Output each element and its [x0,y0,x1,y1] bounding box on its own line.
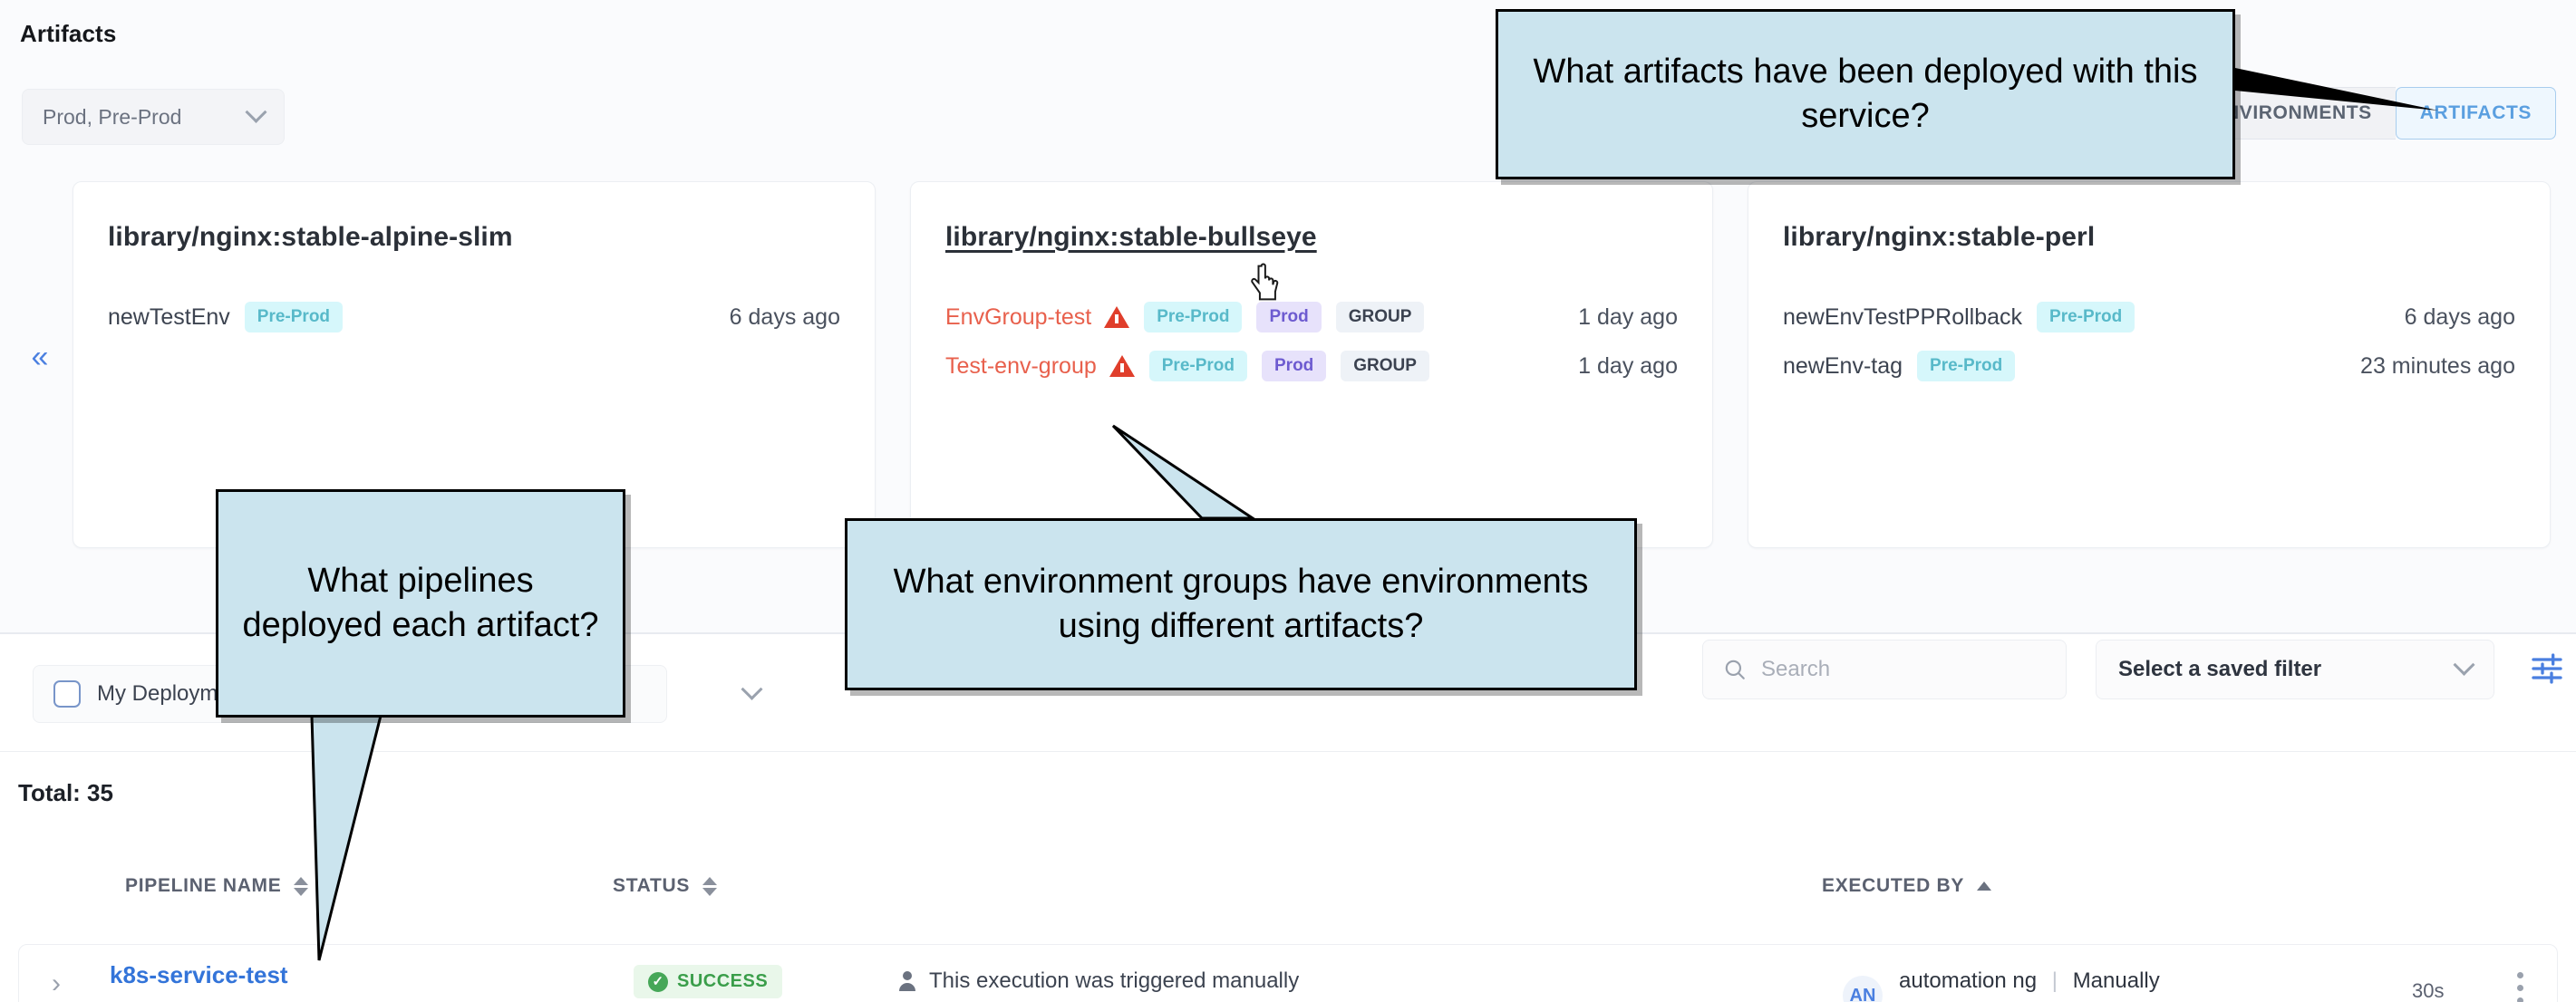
annotation-text: What pipelines deployed each artifact? [218,559,623,647]
annotation-callout-artifacts: What artifacts have been deployed with t… [1496,9,2235,179]
annotation-callout-pipelines: What pipelines deployed each artifact? [216,489,625,718]
annotation-callout-envgroups: What environment groups have environment… [845,518,1637,690]
annotation-text: What environment groups have environment… [847,560,1634,648]
annotation-text: What artifacts have been deployed with t… [1498,50,2232,138]
